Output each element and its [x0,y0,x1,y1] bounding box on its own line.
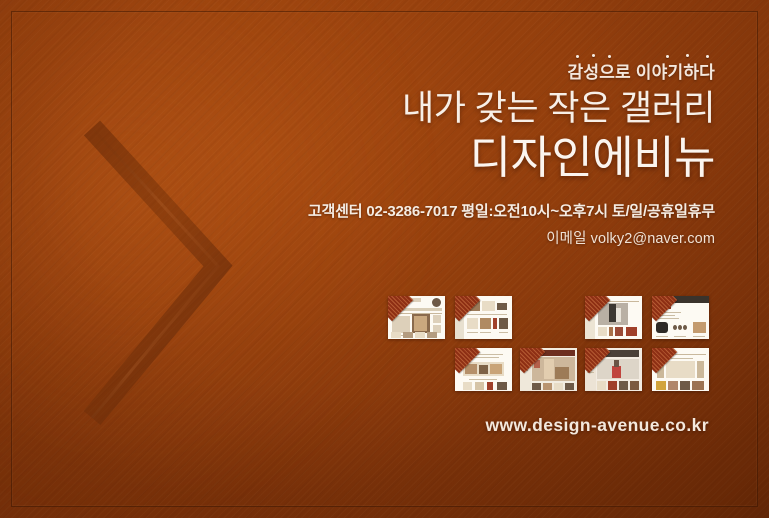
tagline-dots-decoration [568,54,715,60]
email-info: 이메일 volky2@naver.com [235,230,715,248]
portfolio-thumb-6[interactable] [520,348,577,391]
contact-info: 고객센터 02-3286-7017 평일:오전10시~오후7시 토/일/공휴일휴… [235,203,715,222]
promo-banner: 감성으로 이야기하다 내가 갖는 작은 갤러리 디자인에비뉴 고객센터 02-3… [0,0,769,518]
portfolio-thumb-5[interactable] [455,348,512,391]
portfolio-thumb-1[interactable] [388,296,445,339]
portfolio-thumb-3[interactable] [585,296,642,339]
portfolio-thumb-8[interactable] [652,348,709,391]
site-url[interactable]: www.design-avenue.co.kr [486,415,709,436]
headline-text: 내가 갖는 작은 갤러리 [235,88,715,131]
brand-title: 디자인에비뉴 [235,132,715,184]
tagline-text: 감성으로 이야기하다 [568,63,715,82]
portfolio-thumb-2[interactable] [455,296,512,339]
tagline: 감성으로 이야기하다 [568,62,715,83]
headline-block: 감성으로 이야기하다 내가 갖는 작은 갤러리 디자인에비뉴 고객센터 02-3… [235,62,715,248]
portfolio-thumb-7[interactable] [585,348,642,391]
portfolio-thumb-4[interactable] [652,296,709,339]
